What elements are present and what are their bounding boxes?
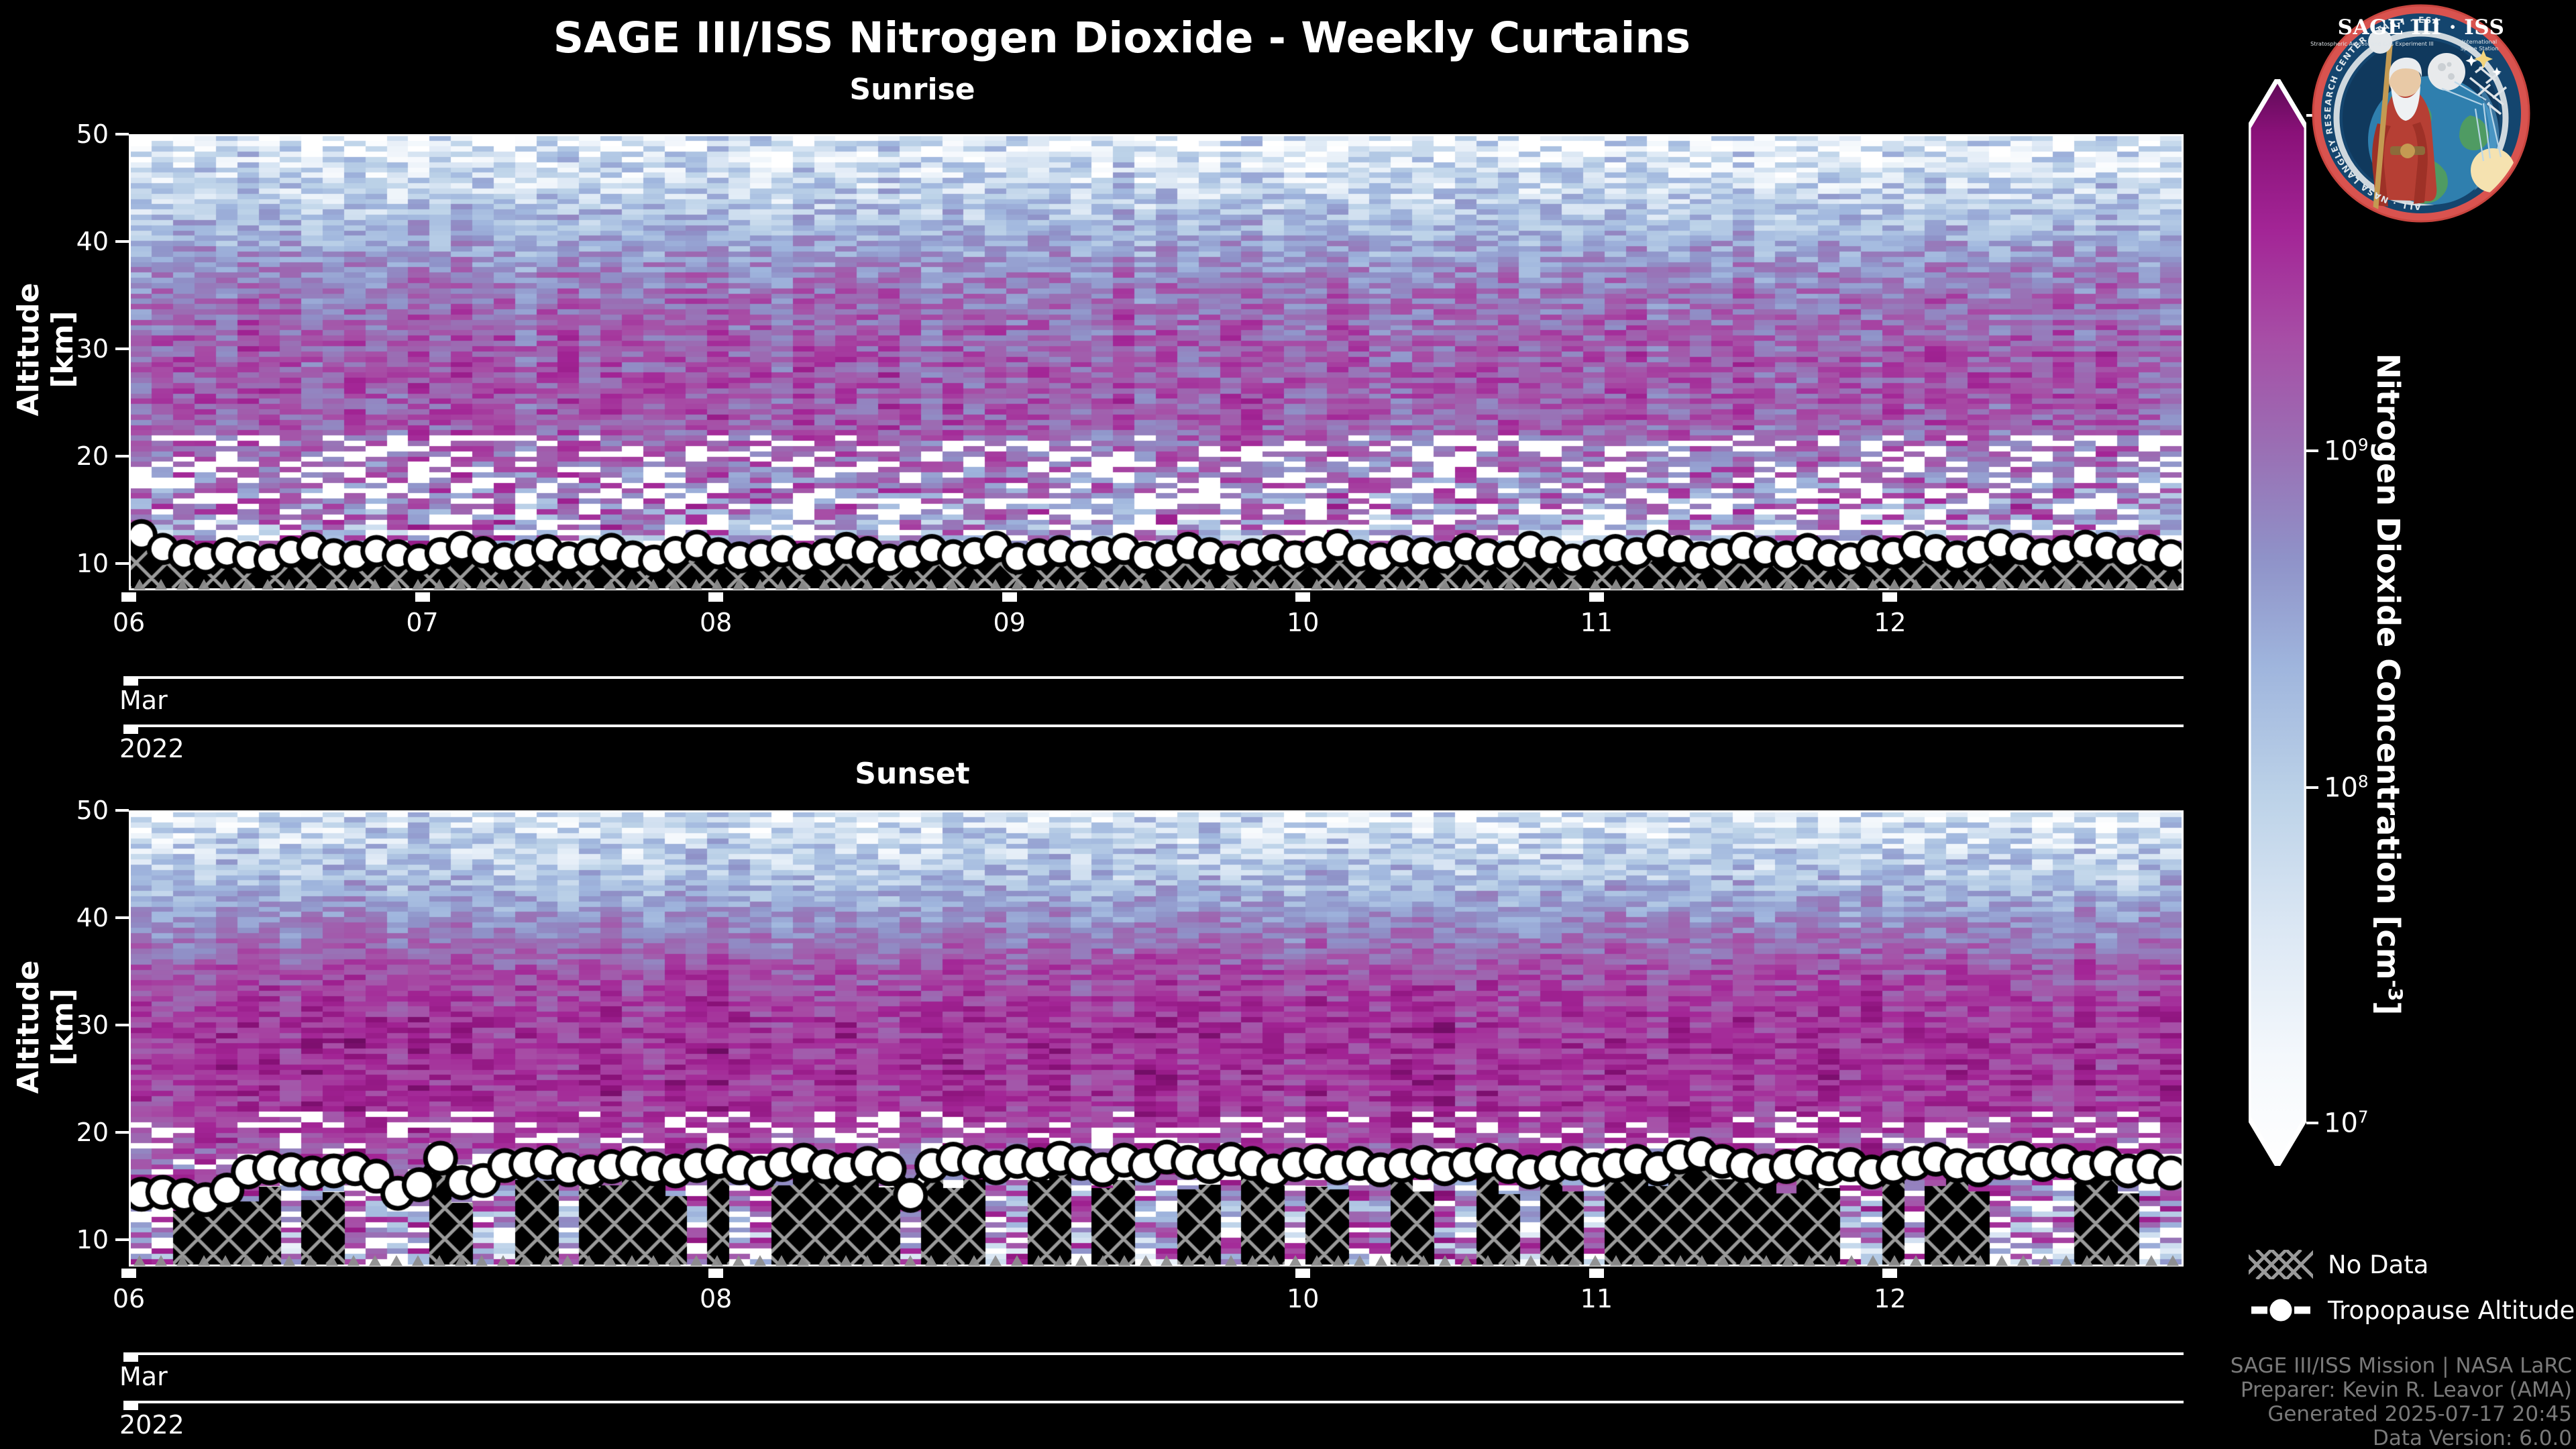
x-tick-sunrise-10	[1295, 592, 1310, 602]
x-tick-sunrise-12	[1882, 592, 1897, 602]
date-axis-label-sunset-2022: 2022	[119, 1410, 184, 1440]
x-tick-label-sunrise-08: 08	[700, 608, 732, 637]
date-axis-cap-sunset-1	[123, 1401, 138, 1410]
x-tick-sunrise-07	[415, 592, 430, 602]
colorbar-tick-1e9	[2306, 449, 2318, 452]
svg-text:International: International	[2462, 38, 2497, 45]
y-tick-label-sunrise-50: 50	[21, 119, 109, 149]
x-tick-label-sunrise-10: 10	[1287, 608, 1319, 637]
y-tick-label-sunrise-20: 20	[21, 441, 109, 471]
y-tick-label-sunset-50: 50	[21, 796, 109, 825]
colorbar-label-1e7: 107	[2324, 1107, 2369, 1138]
svg-text:SAGE III · ISS: SAGE III · ISS	[2338, 15, 2505, 40]
mission-patch-logo: BALL · NASA LANGLEY RESEARCH CENTER · TA…	[2310, 3, 2532, 224]
date-axis-rule-sunrise-0	[129, 676, 2184, 679]
x-tick-sunset-10	[1295, 1269, 1310, 1278]
legend-label-no-data: No Data	[2328, 1250, 2428, 1279]
x-tick-sunrise-11	[1589, 592, 1604, 602]
y-tick-sunrise-10	[115, 562, 129, 565]
tropopause-marker-icon	[2249, 1295, 2313, 1325]
x-tick-label-sunset-06: 06	[113, 1284, 145, 1313]
credit-generated: Generated 2025-07-17 20:45	[2156, 1402, 2572, 1426]
credit-preparer: Preparer: Kevin R. Leavor (AMA)	[2156, 1378, 2572, 1402]
y-tick-label-sunset-20: 20	[21, 1118, 109, 1147]
legend-label-tropopause: Tropopause Altitude	[2328, 1296, 2575, 1325]
date-axis-rule-sunset-0	[129, 1352, 2184, 1355]
y-axis-label-sunrise: Altitude [km]	[11, 262, 80, 437]
colorbar-axis-label: Nitrogen Dioxide Concentration [cm-3]	[2370, 354, 2406, 1016]
x-tick-label-sunrise-12: 12	[1874, 608, 1906, 637]
y-tick-sunrise-20	[115, 455, 129, 458]
y-tick-sunset-10	[115, 1238, 129, 1241]
legend-item-tropopause: Tropopause Altitude	[2249, 1292, 2576, 1328]
x-tick-label-sunrise-07: 07	[406, 608, 438, 637]
credit-mission: SAGE III/ISS Mission | NASA LaRC	[2156, 1354, 2572, 1378]
y-tick-label-sunset-40: 40	[21, 903, 109, 932]
colorbar	[2249, 79, 2306, 1166]
x-tick-sunrise-08	[708, 592, 723, 602]
colorbar-gradient	[2249, 79, 2306, 1166]
legend-item-no-data: No Data	[2249, 1246, 2576, 1283]
x-tick-label-sunset-08: 08	[700, 1284, 732, 1313]
panel-subtitle-sunset: Sunset	[67, 757, 1758, 791]
date-axis-label-sunset-Mar: Mar	[119, 1362, 168, 1391]
y-axis-label-sunset: Altitude [km]	[11, 940, 80, 1114]
y-tick-sunrise-50	[115, 133, 129, 136]
colorbar-label-1e8: 108	[2324, 771, 2369, 803]
svg-text:Stratospheric Aerosol and Gas: Stratospheric Aerosol and Gas Experiment…	[2310, 40, 2434, 47]
y-tick-label-sunrise-40: 40	[21, 227, 109, 256]
x-tick-sunset-12	[1882, 1269, 1897, 1278]
y-tick-sunrise-30	[115, 347, 129, 350]
page-title: SAGE III/ISS Nitrogen Dioxide - Weekly C…	[0, 13, 2244, 62]
y-tick-sunset-30	[115, 1024, 129, 1026]
y-tick-sunset-40	[115, 916, 129, 919]
x-tick-label-sunset-11: 11	[1580, 1284, 1613, 1313]
x-tick-sunset-11	[1589, 1269, 1604, 1278]
y-tick-label-sunset-10: 10	[21, 1225, 109, 1254]
colorbar-label-1e9: 109	[2324, 435, 2369, 466]
y-tick-sunrise-40	[115, 240, 129, 243]
colorbar-tick-1e7	[2306, 1122, 2318, 1124]
x-tick-sunset-08	[708, 1269, 723, 1278]
heatmap-sunrise[interactable]	[129, 134, 2184, 590]
colorbar-tick-1e8	[2306, 786, 2318, 789]
date-axis-rule-sunset-1	[129, 1401, 2184, 1403]
y-tick-sunset-20	[115, 1131, 129, 1134]
y-tick-sunset-50	[115, 809, 129, 812]
date-axis-rule-sunrise-1	[129, 724, 2184, 727]
x-tick-sunset-06	[121, 1269, 136, 1278]
credit-version: Data Version: 6.0.0	[2156, 1426, 2572, 1449]
x-tick-sunrise-09	[1002, 592, 1017, 602]
date-axis-cap-sunrise-0	[123, 676, 138, 686]
x-tick-label-sunrise-06: 06	[113, 608, 145, 637]
credits: SAGE III/ISS Mission | NASA LaRC Prepare…	[2156, 1354, 2572, 1449]
x-tick-label-sunrise-11: 11	[1580, 608, 1613, 637]
hatch-icon	[2249, 1250, 2313, 1279]
date-axis-cap-sunrise-1	[123, 724, 138, 734]
x-tick-sunrise-06	[121, 592, 136, 602]
date-axis-label-sunrise-Mar: Mar	[119, 686, 168, 715]
legend: No Data Tropopause Altitude	[2249, 1246, 2576, 1338]
heatmap-sunset[interactable]	[129, 810, 2184, 1267]
x-tick-label-sunset-12: 12	[1874, 1284, 1906, 1313]
date-axis-cap-sunset-0	[123, 1352, 138, 1362]
x-tick-label-sunrise-09: 09	[994, 608, 1026, 637]
panel-subtitle-sunrise: Sunrise	[67, 72, 1758, 107]
x-tick-label-sunset-10: 10	[1287, 1284, 1319, 1313]
svg-text:Space Station: Space Station	[2461, 45, 2499, 52]
y-tick-label-sunrise-10: 10	[21, 549, 109, 578]
